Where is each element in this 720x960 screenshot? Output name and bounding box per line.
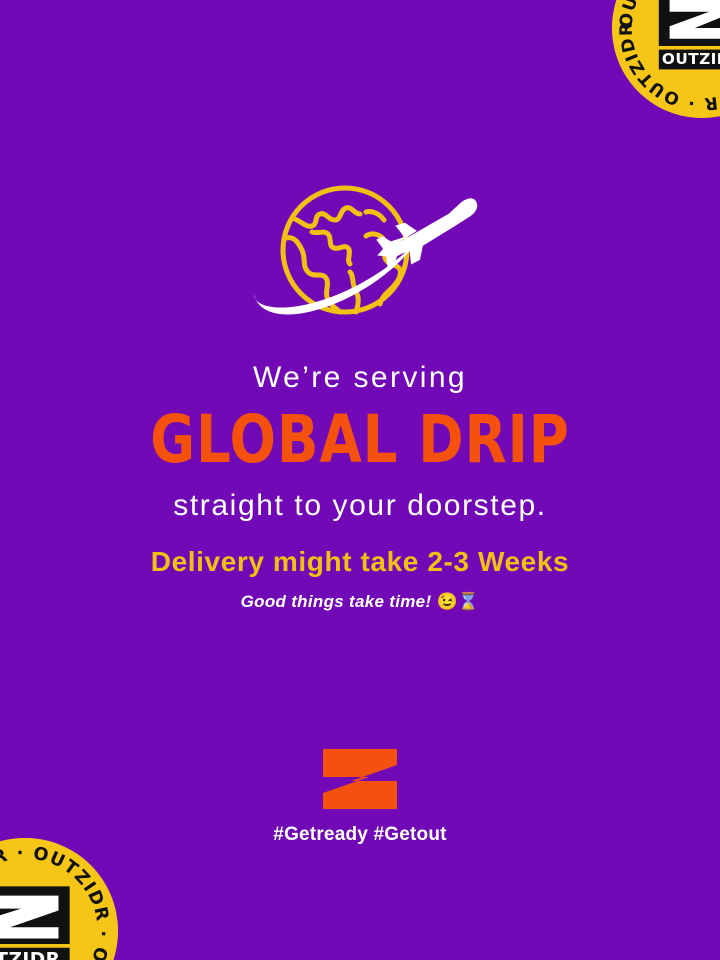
globe-airplane-illustration (0, 176, 720, 336)
brand-badge-bottom-left: OUTZIDR · OUTZIDR · OUTZIDR · OUTZIDR · … (0, 838, 118, 960)
footer-block: #Getready #Getout (0, 748, 720, 846)
poster-canvas: OUTZIDR · OUTZIDR · OUTZIDR · OUTZIDR · … (0, 0, 720, 960)
footer-hashtags: #Getready #Getout (0, 824, 720, 846)
delivery-tagline: Good things take time! 😉⌛ (0, 593, 720, 610)
headline-block: We’re serving GLOBAL DRIP straight to yo… (0, 363, 720, 521)
delivery-tagline-text: Good things take time! (241, 592, 432, 611)
badge-monogram-block: OUTZIDR (0, 886, 70, 960)
svg-text:OUTZIDR: OUTZIDR (0, 949, 60, 960)
brand-badge-top-right: OUTZIDR · OUTZIDR · OUTZIDR · OUTZIDR · … (612, 0, 720, 118)
svg-text:OUTZIDR: OUTZIDR (662, 50, 720, 68)
badge-monogram-block: OUTZIDR (659, 0, 720, 69)
headline-subtitle: straight to your doorstep. (0, 491, 720, 521)
delivery-notice: Delivery might take 2-3 Weeks (0, 548, 720, 576)
wink-hourglass-emoji: 😉⌛ (436, 592, 479, 611)
headline-eyebrow: We’re serving (0, 363, 720, 393)
z-logo-icon (320, 748, 400, 810)
headline-title: GLOBAL DRIP (29, 407, 691, 473)
delivery-block: Delivery might take 2-3 Weeks Good thing… (0, 548, 720, 610)
